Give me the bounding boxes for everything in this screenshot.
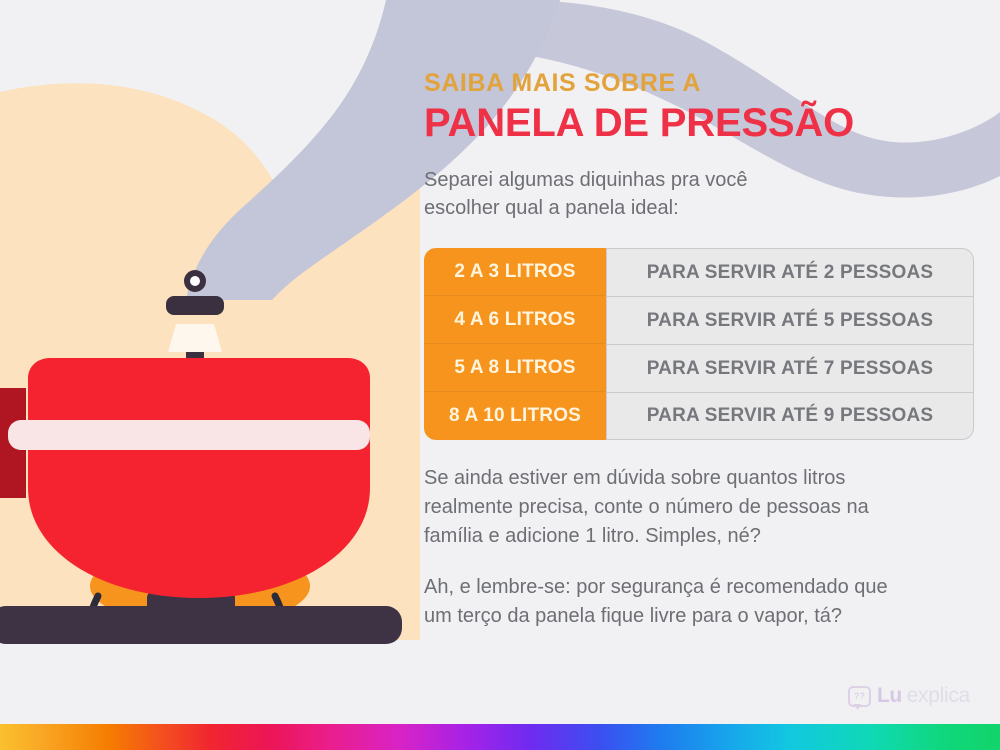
valve-bar xyxy=(166,296,224,315)
speech-bubble-icon: ?? xyxy=(848,686,871,707)
safety-paragraph: Ah, e lembre-se: por segurança é recomen… xyxy=(424,573,976,631)
safety-line-2: um terço da panela fique livre para o va… xyxy=(424,602,976,631)
table-row: 8 A 10 LITROS PARA SERVIR ATÉ 9 PESSOAS xyxy=(424,392,974,440)
valve-ring-inner xyxy=(190,276,200,286)
rainbow-footer-bar xyxy=(0,724,1000,750)
intro-line-1: Separei algumas diquinhas pra você xyxy=(424,166,976,194)
tip-line-3: família e adicione 1 litro. Simples, né? xyxy=(424,522,976,551)
cell-volume: 4 A 6 LITROS xyxy=(424,296,606,344)
table-row: 4 A 6 LITROS PARA SERVIR ATÉ 5 PESSOAS xyxy=(424,296,974,344)
cell-serves: PARA SERVIR ATÉ 9 PESSOAS xyxy=(606,392,974,440)
intro-paragraph: Separei algumas diquinhas pra você escol… xyxy=(424,166,976,223)
lu-explica-logo: ?? Lu explica xyxy=(848,684,970,708)
content-column: SAIBA MAIS SOBRE A PANELA DE PRESSÃO Sep… xyxy=(424,70,976,653)
logo-suffix-text: explica xyxy=(907,684,970,708)
tip-line-1: Se ainda estiver em dúvida sobre quantos… xyxy=(424,464,976,493)
valve-skirt xyxy=(168,324,222,352)
intro-line-2: escolher qual a panela ideal: xyxy=(424,194,976,222)
kicker-text: SAIBA MAIS SOBRE A xyxy=(424,70,976,98)
cell-serves: PARA SERVIR ATÉ 7 PESSOAS xyxy=(606,344,974,392)
cell-volume: 5 A 8 LITROS xyxy=(424,344,606,392)
speech-bubble-label: ?? xyxy=(854,692,865,701)
tip-paragraph: Se ainda estiver em dúvida sobre quantos… xyxy=(424,464,976,551)
pot-body xyxy=(28,358,370,598)
tip-line-2: realmente precisa, conte o número de pes… xyxy=(424,493,976,522)
cell-serves: PARA SERVIR ATÉ 2 PESSOAS xyxy=(606,248,974,296)
safety-line-1: Ah, e lembre-se: por segurança é recomen… xyxy=(424,573,976,602)
cell-volume: 8 A 10 LITROS xyxy=(424,392,606,440)
table-row: 5 A 8 LITROS PARA SERVIR ATÉ 7 PESSOAS xyxy=(424,344,974,392)
stovetop-bar xyxy=(0,606,402,644)
cell-serves: PARA SERVIR ATÉ 5 PESSOAS xyxy=(606,296,974,344)
logo-brand-text: Lu xyxy=(877,684,902,708)
cell-volume: 2 A 3 LITROS xyxy=(424,248,606,296)
table-row: 2 A 3 LITROS PARA SERVIR ATÉ 2 PESSOAS xyxy=(424,248,974,296)
page-title: PANELA DE PRESSÃO xyxy=(424,102,976,144)
infographic-page: SAIBA MAIS SOBRE A PANELA DE PRESSÃO Sep… xyxy=(0,0,1000,750)
capacity-table: 2 A 3 LITROS PARA SERVIR ATÉ 2 PESSOAS 4… xyxy=(424,248,974,440)
pot-lid-band xyxy=(8,420,370,450)
